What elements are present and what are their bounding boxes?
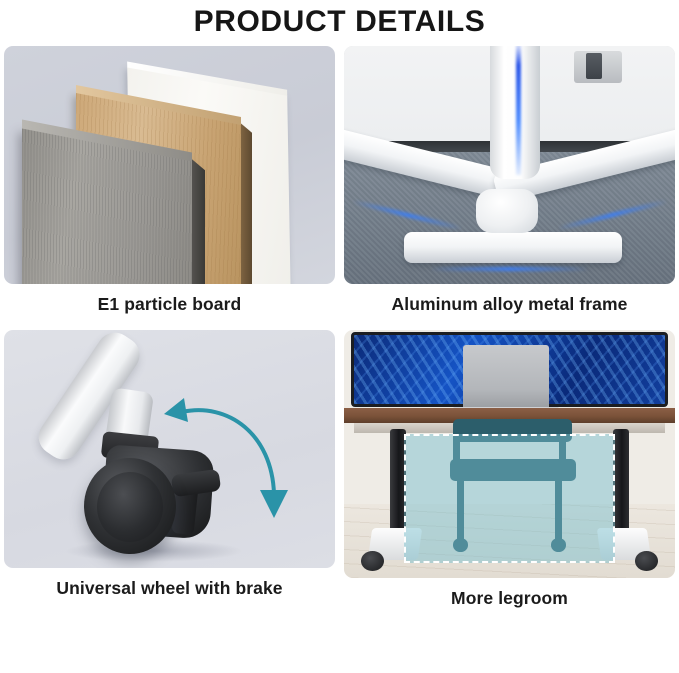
page-title: PRODUCT DETAILS [0,0,679,44]
desk-castor-right [635,551,658,571]
detail-card-particle-board: E1 particle board [4,46,335,326]
desk-leg-right [613,429,628,538]
board-sample-grey [22,127,192,284]
caption-more-legroom: More legroom [344,578,675,618]
particle-board-photo [4,46,335,284]
frame-center-column [490,46,540,179]
detail-card-more-legroom: More legroom [344,330,675,608]
caption-particle-board: E1 particle board [4,284,335,324]
universal-wheel-photo [4,330,335,568]
frame-center-hub [476,189,538,233]
detail-card-universal-wheel: Universal wheel with brake [4,330,335,608]
column-blue-accent [516,46,521,175]
leg-blue-accent-front [430,267,589,271]
detail-card-grid: E1 particle board Aluminum alloy metal f… [4,46,675,671]
product-details-infographic: PRODUCT DETAILS E1 particle board [0,0,679,673]
detail-card-metal-frame: Aluminum alloy metal frame [344,46,675,326]
laptop [463,345,549,409]
monitor-stand [574,51,622,83]
legroom-highlight-region [404,434,616,563]
metal-frame-photo [344,46,675,284]
caption-metal-frame: Aluminum alloy metal frame [344,284,675,324]
desk-castor-left [361,551,384,571]
more-legroom-photo [344,330,675,578]
curved-double-arrow [154,390,304,530]
caption-universal-wheel: Universal wheel with brake [4,568,335,608]
frame-leg-front [404,232,622,263]
